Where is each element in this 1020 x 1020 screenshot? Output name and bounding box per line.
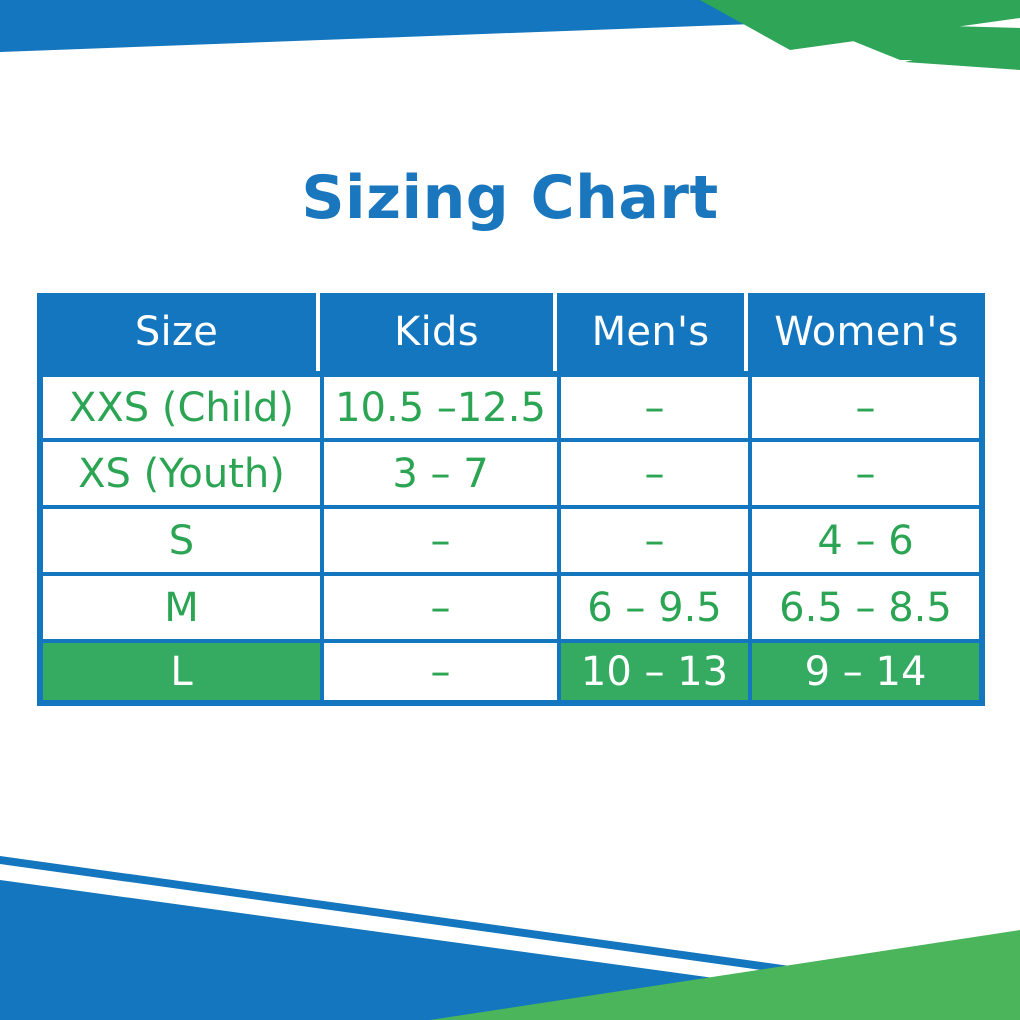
top-green-shape-a [700, 0, 1020, 50]
bottom-blue-thin-edge [0, 856, 1020, 1006]
top-blue-wedge [0, 0, 806, 52]
table-row: M – 6 – 9.5 6.5 – 8.5 [37, 572, 985, 639]
cell-kids: – [320, 572, 557, 639]
cell-mens: 6 – 9.5 [557, 572, 748, 639]
page-title-container: Sizing Chart [0, 168, 1020, 228]
cell-kids: 10.5 –12.5 [320, 371, 557, 438]
cell-kids: – [320, 639, 557, 706]
cell-womens: – [748, 438, 985, 505]
table-row: XXS (Child) 10.5 –12.5 – – [37, 371, 985, 438]
sizing-chart-page: Sizing Chart Size Kids Men's Women's XXS… [0, 0, 1020, 1020]
column-header-size: Size [37, 293, 320, 371]
cell-size: L [37, 639, 320, 706]
cell-size: M [37, 572, 320, 639]
cell-size: S [37, 505, 320, 572]
bottom-blue-wedge [0, 880, 1020, 1020]
table-body: XXS (Child) 10.5 –12.5 – – XS (Youth) 3 … [37, 371, 985, 706]
top-green-shape-c [905, 32, 1020, 70]
cell-kids: 3 – 7 [320, 438, 557, 505]
sizing-table-container: Size Kids Men's Women's XXS (Child) 10.5… [37, 293, 985, 706]
cell-womens: 6.5 – 8.5 [748, 572, 985, 639]
top-green-shape-b [806, 22, 1020, 60]
page-title: Sizing Chart [301, 168, 718, 228]
header-row: Size Kids Men's Women's [37, 293, 985, 371]
cell-size: XXS (Child) [37, 371, 320, 438]
table-row: S – – 4 – 6 [37, 505, 985, 572]
bottom-green-triangle [430, 930, 1020, 1020]
bottom-white-stripe [0, 864, 1020, 1020]
cell-womens: 9 – 14 [748, 639, 985, 706]
cell-size: XS (Youth) [37, 438, 320, 505]
cell-womens: – [748, 371, 985, 438]
cell-kids: – [320, 505, 557, 572]
table-header: Size Kids Men's Women's [37, 293, 985, 371]
cell-mens: – [557, 505, 748, 572]
table-row-highlighted: L – 10 – 13 9 – 14 [37, 639, 985, 706]
cell-womens: 4 – 6 [748, 505, 985, 572]
cell-mens: – [557, 438, 748, 505]
column-header-womens: Women's [748, 293, 985, 371]
cell-mens: – [557, 371, 748, 438]
column-header-mens: Men's [557, 293, 748, 371]
column-header-kids: Kids [320, 293, 557, 371]
table-row: XS (Youth) 3 – 7 – – [37, 438, 985, 505]
sizing-table: Size Kids Men's Women's XXS (Child) 10.5… [37, 293, 985, 706]
cell-mens: 10 – 13 [557, 639, 748, 706]
